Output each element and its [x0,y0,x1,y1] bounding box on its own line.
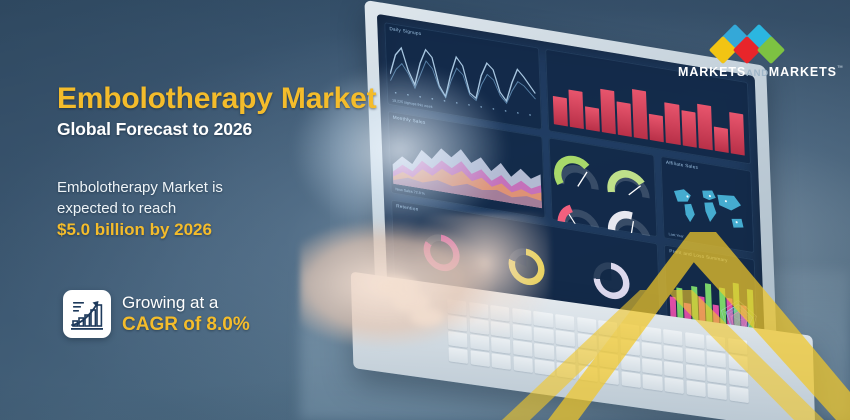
stacked-area-chart [391,123,542,208]
trademark-symbol: ™ [837,66,843,72]
body-copy: Embolotherapy Market is expected to reac… [57,177,223,240]
cagr-line-2: CAGR of 8.0% [122,314,250,336]
world-map-icon [665,170,751,244]
cagr-block: Growing at a CAGR of 8.0% [63,290,250,338]
logo-diamonds [678,26,828,60]
panel-footer: Last Year [669,232,684,239]
donut-lavender [593,260,630,302]
logo-wordmark: MARKETSANDMARKETS™ [678,63,828,81]
logo-word-markets-1: MARKETS [678,65,746,79]
logo-word-and: AND [746,68,769,79]
cagr-text: Growing at a CAGR of 8.0% [122,292,250,336]
body-line-1: Embolotherapy Market is [57,177,223,198]
logo-word-markets-2: MARKETS [769,65,837,79]
marketsandmarkets-logo[interactable]: MARKETSANDMARKETS™ [678,26,828,81]
panel-label: Affiliate Sales [666,160,698,170]
gauge-4 [604,202,655,238]
gauge-1 [552,149,603,199]
page-subtitle: Global Forecast to 2026 [57,119,252,140]
page-title: Embolotherapy Market [57,82,376,116]
body-highlight: $5.0 billion by 2026 [57,219,223,240]
line-chart [389,36,538,119]
dashboard-panel-world-map: Affiliate Sales [661,156,755,254]
panel-label: Daily Signups [389,26,421,36]
gauge-2 [603,157,654,207]
hand-photo [300,214,550,389]
body-line-2: expected to reach [57,198,223,219]
marketing-banner: Daily Signups [0,0,850,420]
growth-chart-icon [63,290,111,338]
panel-footer: New Sales 72.8 % [395,187,425,196]
dashboard-panel-gauges [548,137,658,237]
cagr-line-1: Growing at a [122,292,250,314]
panel-label: Retention [396,203,419,212]
